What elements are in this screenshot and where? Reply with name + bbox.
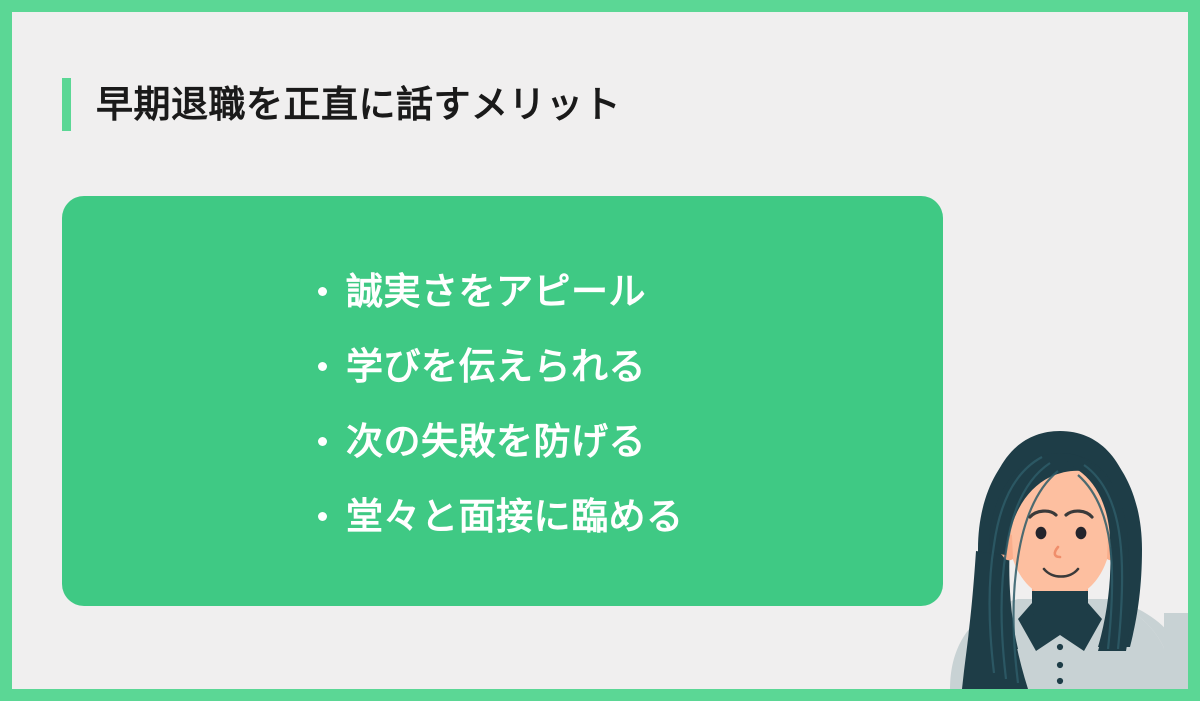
list-item: 誠実さをアピール (318, 254, 684, 329)
slide-canvas: 早期退職を正直に話すメリット 誠実さをアピール 学びを伝えられる 次の失敗を防げ… (12, 12, 1188, 689)
list-item-label: 次の失敗を防げる (346, 423, 646, 460)
list-item: 学びを伝えられる (318, 329, 684, 404)
page-title: 早期退職を正直に話すメリット (62, 76, 621, 132)
list-item-label: 誠実さをアピール (346, 273, 646, 310)
list-item: 堂々と面接に臨める (318, 479, 684, 554)
page-title-text: 早期退職を正直に話すメリット (96, 86, 621, 123)
list-item-label: 堂々と面接に臨める (346, 498, 684, 535)
bullet-dot-icon (318, 437, 327, 446)
bullet-dot-icon (318, 287, 327, 296)
title-accent-bar (62, 78, 71, 131)
woman-avatar-illustration (932, 423, 1188, 689)
list-item-label: 学びを伝えられる (346, 348, 646, 385)
list-item: 次の失敗を防げる (318, 404, 684, 479)
bullet-dot-icon (318, 512, 327, 521)
benefits-card: 誠実さをアピール 学びを伝えられる 次の失敗を防げる 堂々と面接に臨める (62, 196, 943, 606)
bullet-dot-icon (318, 362, 327, 371)
slide-frame: 早期退職を正直に話すメリット 誠実さをアピール 学びを伝えられる 次の失敗を防げ… (0, 0, 1200, 701)
benefits-list: 誠実さをアピール 学びを伝えられる 次の失敗を防げる 堂々と面接に臨める (318, 254, 684, 554)
